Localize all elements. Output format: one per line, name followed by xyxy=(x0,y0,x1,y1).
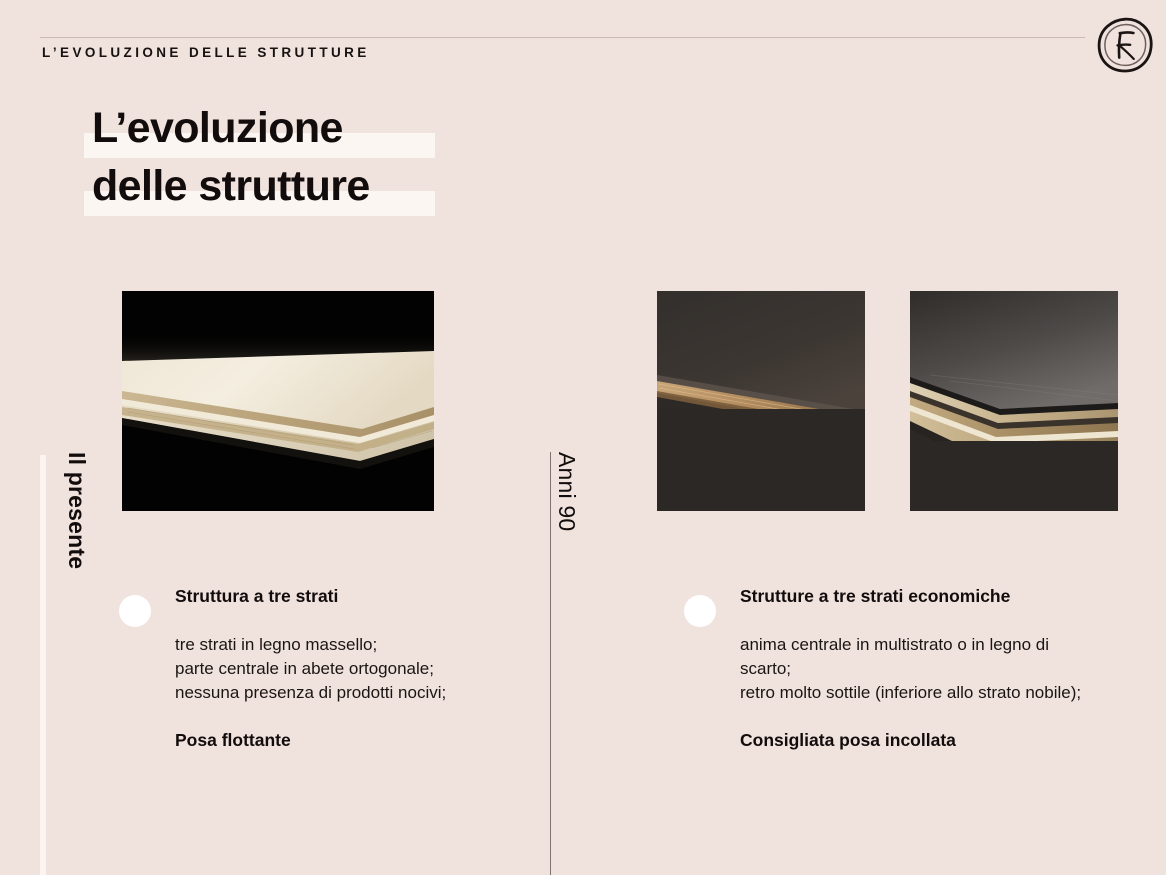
eyebrow-label: L’EVOLUZIONE DELLE STRUTTURE xyxy=(42,45,370,60)
bullet-dot-icon xyxy=(684,595,716,627)
column-body: Struttura a tre strati tre strati in leg… xyxy=(175,585,519,751)
list-item: parte centrale in abete ortogonale; xyxy=(175,657,519,681)
column-footnote: Posa flottante xyxy=(175,729,519,751)
photo-economy-plank-edge xyxy=(657,291,865,511)
bullet-dot-icon xyxy=(119,595,151,627)
column-footnote: Consigliata posa incollata xyxy=(740,729,1104,751)
column-divider xyxy=(550,452,551,875)
slide-root: L’EVOLUZIONE DELLE STRUTTURE L’evoluzion… xyxy=(0,0,1166,875)
column-body: Strutture a tre strati economiche anima … xyxy=(740,585,1104,751)
header-rule xyxy=(40,37,1085,38)
list-item: nessuna presenza di prodotti nocivi; xyxy=(175,681,519,705)
brand-monogram-f-icon xyxy=(1096,16,1154,74)
list-item: retro molto sottile (inferiore allo stra… xyxy=(740,681,1104,705)
left-accent-stripe xyxy=(40,455,46,875)
page-title: L’evoluzione delle strutture xyxy=(84,104,544,220)
column-list: tre strati in legno massello; parte cent… xyxy=(175,633,519,705)
vertical-label-present: Il presente xyxy=(63,452,90,569)
column-heading: Strutture a tre strati economiche xyxy=(740,585,1104,607)
list-item: tre strati in legno massello; xyxy=(175,633,519,657)
column-list: anima centrale in multistrato o in legno… xyxy=(740,633,1104,705)
column-heading: Struttura a tre strati xyxy=(175,585,519,607)
vertical-label-anni-90: Anni 90 xyxy=(553,452,580,531)
photo-three-layer-solid-plank xyxy=(122,291,434,511)
list-item: anima centrale in multistrato o in legno… xyxy=(740,633,1104,681)
photo-economy-plank-plywood-core xyxy=(910,291,1118,511)
page-title-line-2: delle strutture xyxy=(84,162,544,218)
column-il-presente: Struttura a tre strati tre strati in leg… xyxy=(119,585,519,751)
page-title-text-2: delle strutture xyxy=(92,158,370,214)
page-title-text-1: L’evoluzione xyxy=(92,100,343,156)
page-title-line-1: L’evoluzione xyxy=(84,104,544,160)
column-anni-90: Strutture a tre strati economiche anima … xyxy=(684,585,1104,751)
